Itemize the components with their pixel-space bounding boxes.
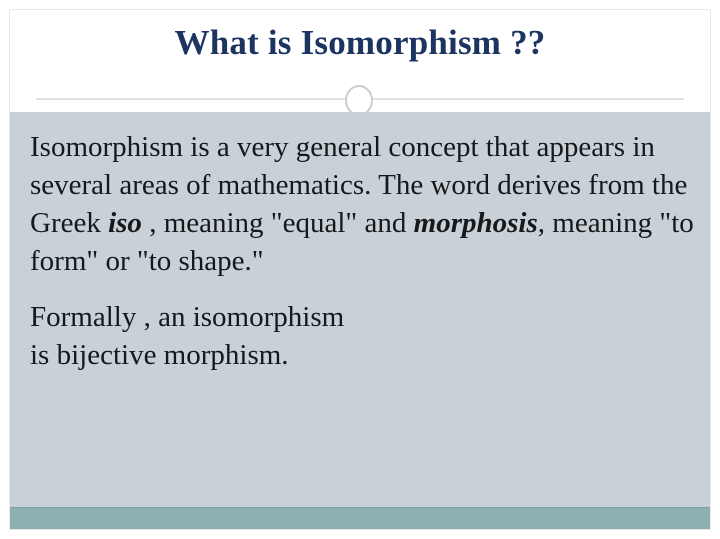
paragraph-formal: Formally , an isomorphismis bijective mo… [30, 298, 698, 374]
slide-body: Isomorphism is a very general concept th… [10, 112, 710, 529]
footer-accent-bar [10, 507, 710, 529]
title-divider [10, 98, 710, 112]
page-title: What is Isomorphism ?? [10, 24, 710, 63]
emphasis-morphosis: morphosis [414, 207, 538, 239]
slide-canvas: What is Isomorphism ?? Isomorphism is a … [10, 10, 710, 529]
formal-line-1: Formally , an isomorphism [30, 301, 344, 333]
body-text-block: Isomorphism is a very general concept th… [30, 128, 698, 374]
emphasis-iso: iso [108, 207, 142, 239]
definition-segment-2: , meaning "equal" and [142, 207, 414, 239]
formal-line-2: is bijective morphism. [30, 339, 289, 371]
paragraph-definition: Isomorphism is a very general concept th… [30, 128, 698, 280]
